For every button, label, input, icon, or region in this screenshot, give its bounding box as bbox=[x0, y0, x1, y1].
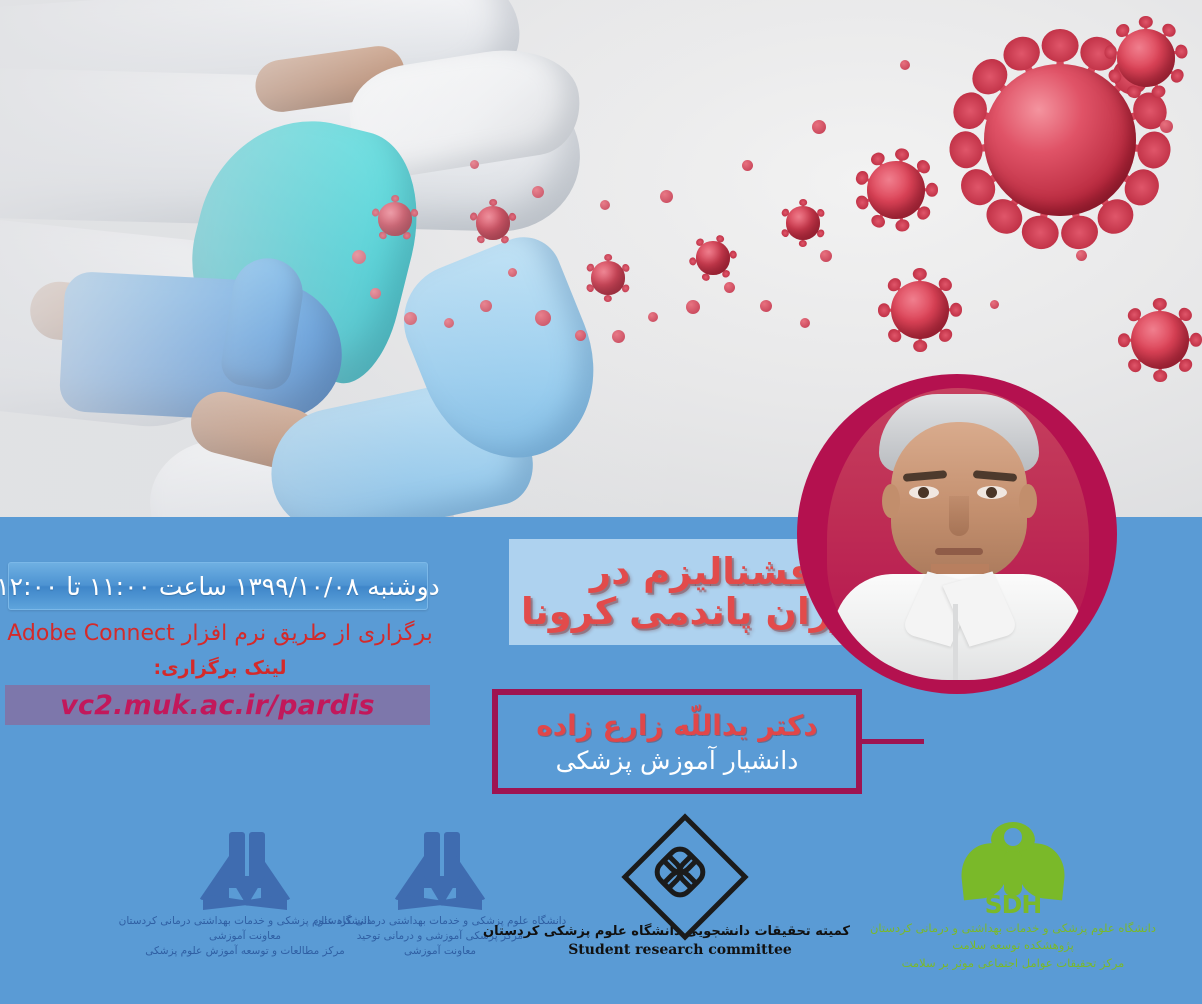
sdh-wordmark: SDH bbox=[973, 890, 1053, 916]
virus-dot bbox=[812, 120, 826, 134]
logo-caption-line: دانشگاه علوم پزشکی و خدمات بهداشتی و درم… bbox=[828, 920, 1198, 937]
virus-dot bbox=[1160, 120, 1173, 133]
virus-dot bbox=[470, 160, 479, 169]
virus-dot bbox=[352, 250, 366, 264]
coronavirus-icon bbox=[856, 150, 936, 230]
virus-dot bbox=[370, 288, 381, 299]
speaker-portrait bbox=[797, 374, 1117, 694]
virus-dot bbox=[532, 186, 544, 198]
coronavirus-icon bbox=[585, 255, 631, 301]
speaker-name: دکتر یداللّه زارع زاده bbox=[536, 709, 818, 742]
logo-row: دانشگاه علوم پزشکی و خدمات بهداشتی درمان… bbox=[0, 822, 1202, 1004]
eye bbox=[909, 486, 939, 499]
logo-caption-line: مرکز تحقیقات عوامل اجتماعی موثر بر سلامت bbox=[828, 955, 1198, 972]
meeting-link-box[interactable]: vc2.muk.ac.ir/pardis bbox=[5, 685, 430, 725]
virus-dot bbox=[800, 318, 810, 328]
eye bbox=[977, 486, 1007, 499]
coronavirus-icon bbox=[690, 235, 736, 281]
date-time-banner: دوشنبه ۱۳۹۹/۱۰/۰۸ ساعت ۱۱:۰۰ تا ۱۲:۰۰ bbox=[8, 562, 428, 610]
virus-dot bbox=[1076, 250, 1087, 261]
coronavirus-icon bbox=[1120, 300, 1200, 380]
coronavirus-icon bbox=[1106, 18, 1186, 98]
virus-dot bbox=[444, 318, 454, 328]
coronavirus-icon bbox=[470, 200, 516, 246]
ear bbox=[1019, 484, 1037, 518]
virus-dot bbox=[508, 268, 517, 277]
webinar-poster: دوشنبه ۱۳۹۹/۱۰/۰۸ ساعت ۱۱:۰۰ تا ۱۲:۰۰ بر… bbox=[0, 0, 1202, 1004]
virus-dot bbox=[760, 300, 772, 312]
virus-dot bbox=[480, 300, 492, 312]
speaker-role: دانشیار آموزش پزشکی bbox=[556, 746, 799, 775]
virus-dot bbox=[535, 310, 551, 326]
link-label: لینک برگزاری: bbox=[5, 657, 435, 679]
virus-dot bbox=[900, 60, 910, 70]
poster-body: دوشنبه ۱۳۹۹/۱۰/۰۸ ساعت ۱۱:۰۰ تا ۱۲:۰۰ بر… bbox=[0, 517, 1202, 1004]
virus-dot bbox=[575, 330, 586, 341]
speaker-info-box: دکتر یداللّه زارع زاده دانشیار آموزش پزش… bbox=[492, 689, 862, 794]
ear bbox=[882, 484, 900, 518]
coronavirus-icon bbox=[372, 196, 418, 242]
virus-dot bbox=[404, 312, 417, 325]
coronavirus-icon bbox=[780, 200, 826, 246]
logo-caption-en: Student research committee bbox=[510, 942, 850, 958]
logo-item: کمیته تحقیقات دانشجویی دانشگاه علوم پزشک… bbox=[510, 824, 850, 958]
virus-dot bbox=[612, 330, 625, 343]
virus-dot bbox=[686, 300, 700, 314]
software-line: برگزاری از طریق نرم افزار Adobe Connect bbox=[5, 621, 435, 646]
speaker-connector-line bbox=[862, 739, 924, 744]
speaker-photo bbox=[827, 388, 1089, 680]
logo-item: SDH دانشگاه علوم پزشکی و خدمات بهداشتی و… bbox=[828, 822, 1198, 972]
virus-dot bbox=[660, 190, 673, 203]
virus-dot bbox=[724, 282, 735, 293]
nose bbox=[949, 496, 969, 536]
virus-dot bbox=[600, 200, 610, 210]
virus-dot bbox=[820, 250, 832, 262]
mouth bbox=[935, 548, 983, 555]
virus-dot bbox=[742, 160, 753, 171]
sdh-icon: SDH bbox=[957, 822, 1069, 914]
student-research-committee-icon bbox=[632, 824, 728, 920]
virus-dot bbox=[990, 300, 999, 309]
virus-dot bbox=[648, 312, 658, 322]
university-emblem-icon bbox=[197, 832, 293, 910]
date-time-text: دوشنبه ۱۳۹۹/۱۰/۰۸ ساعت ۱۱:۰۰ تا ۱۲:۰۰ bbox=[0, 572, 440, 601]
coronavirus-icon bbox=[880, 270, 960, 350]
logo-caption-line: پژوهشکده توسعه سلامت bbox=[828, 937, 1198, 954]
university-emblem-icon bbox=[392, 832, 488, 910]
meeting-link-text[interactable]: vc2.muk.ac.ir/pardis bbox=[60, 690, 375, 721]
shirt-placket bbox=[953, 604, 958, 680]
